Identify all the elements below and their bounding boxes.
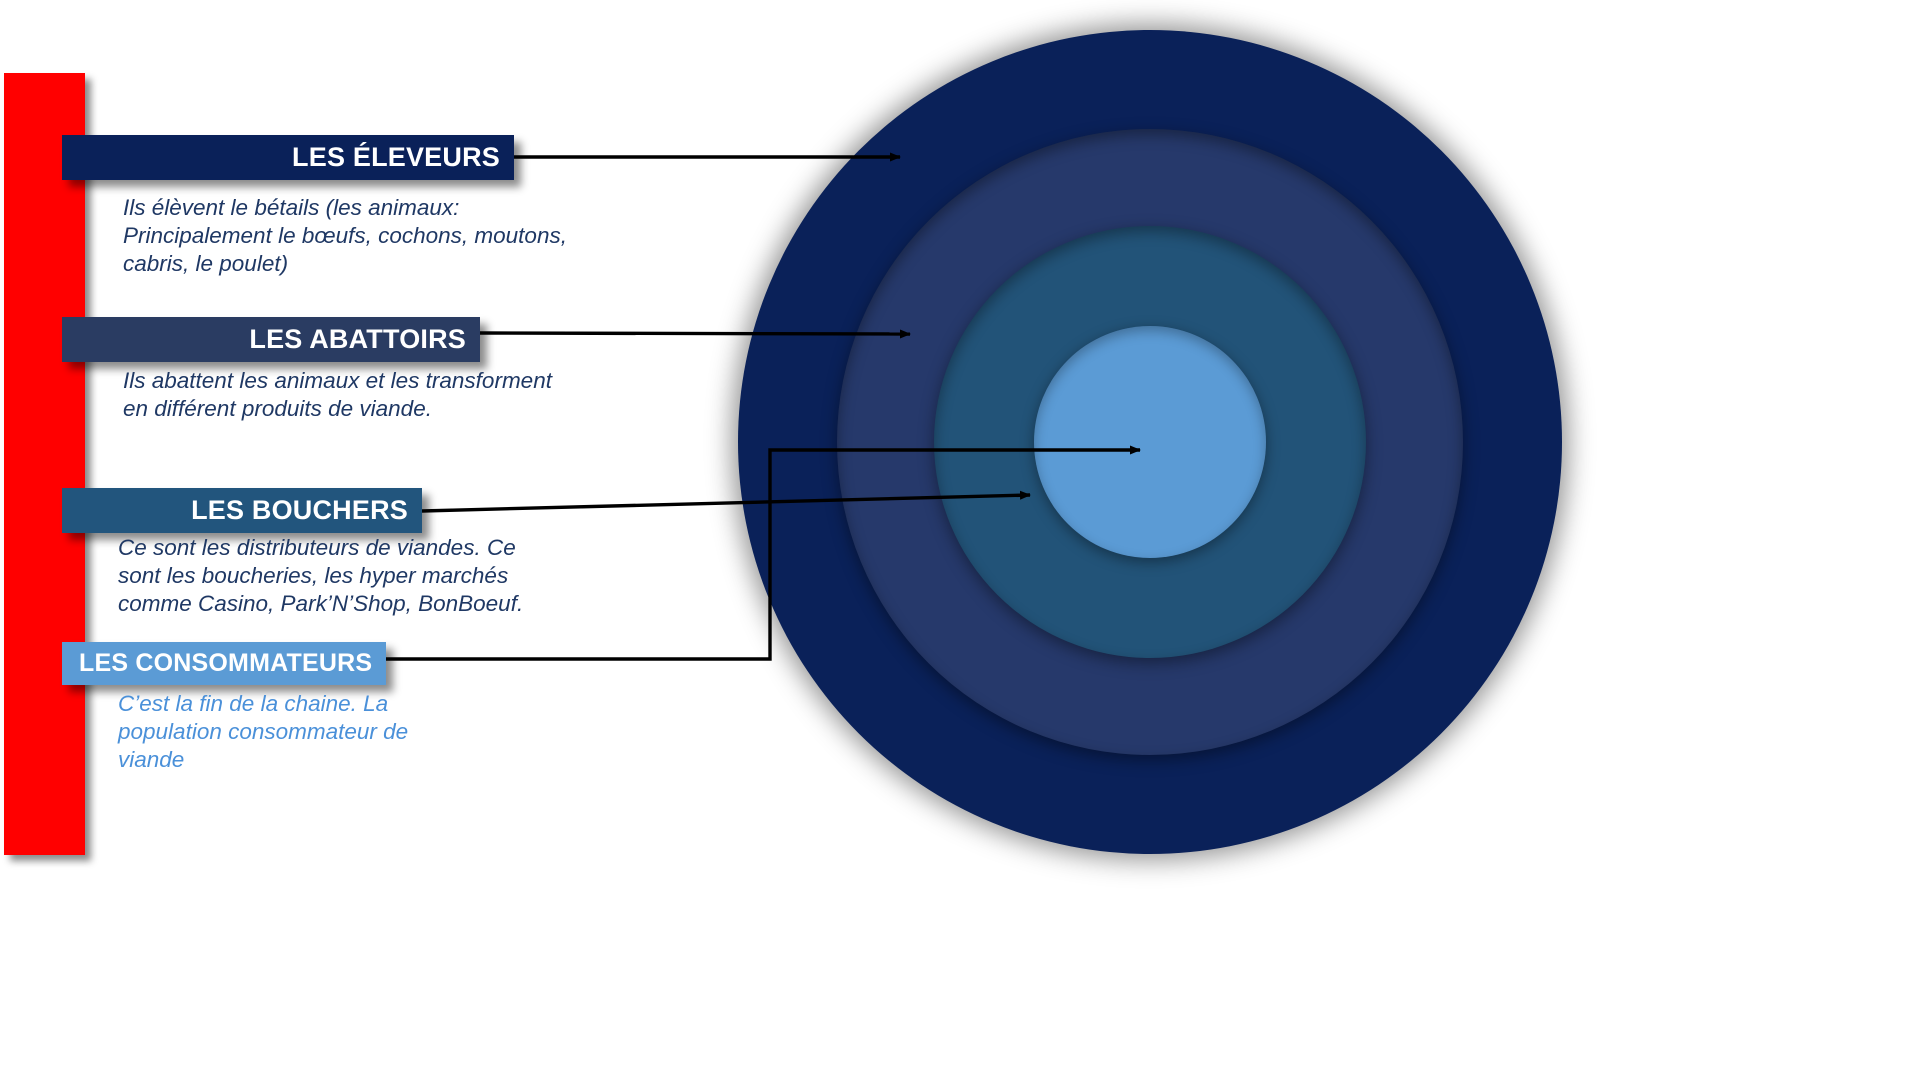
stage-label-eleveurs[interactable]: LES ÉLEVEURS bbox=[62, 135, 514, 180]
stage-description-bouchers: Ce sont les distributeurs de viandes. Ce… bbox=[118, 534, 588, 618]
stage-label-abattoirs[interactable]: LES ABATTOIRS bbox=[62, 317, 480, 362]
arrow-abattoirs bbox=[480, 333, 910, 334]
diagram-canvas: LES ÉLEVEURS Ils élèvent le bétails (les… bbox=[0, 0, 1920, 1080]
stage-label-abattoirs-text: LES ABATTOIRS bbox=[249, 324, 466, 355]
stage-label-bouchers[interactable]: LES BOUCHERS bbox=[62, 488, 422, 533]
stage-description-abattoirs: Ils abattent les animaux et les transfor… bbox=[123, 367, 643, 423]
stage-description-consommateurs: C’est la fin de la chaine. La population… bbox=[118, 690, 448, 774]
stage-label-consommateurs-text: LES CONSOMMATEURS bbox=[79, 649, 372, 678]
arrow-bouchers bbox=[422, 495, 1030, 511]
stage-label-bouchers-text: LES BOUCHERS bbox=[191, 495, 408, 526]
stage-label-eleveurs-text: LES ÉLEVEURS bbox=[292, 142, 500, 173]
stage-description-eleveurs: Ils élèvent le bétails (les animaux: Pri… bbox=[123, 194, 643, 278]
stage-label-consommateurs[interactable]: LES CONSOMMATEURS bbox=[62, 642, 386, 685]
